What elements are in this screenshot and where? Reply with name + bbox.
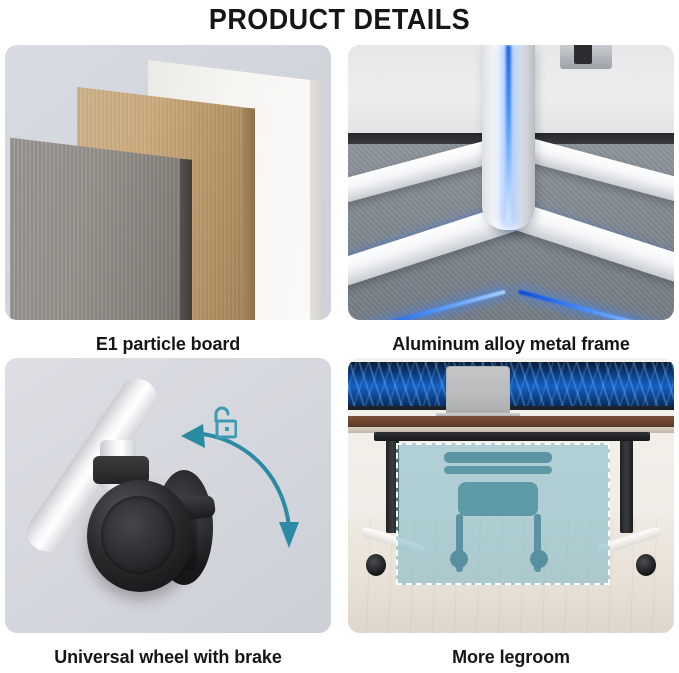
caption-e1-particle-board: E1 particle board (5, 320, 331, 353)
legroom-highlight-area (396, 443, 610, 585)
frame-center-post (482, 45, 535, 230)
desk-under-frame (374, 432, 650, 441)
laptop (446, 366, 510, 418)
desk-caster-left (366, 554, 386, 576)
gray-board-edge (180, 159, 192, 320)
feature-card-universal-wheel-with-brake: Universal wheel with brake (5, 358, 331, 668)
gray-board (10, 138, 180, 320)
oak-board-edge (242, 107, 255, 320)
feature-card-more-legroom: More legroom (348, 358, 674, 668)
led-strip-post (506, 45, 511, 223)
unlock-icon (207, 406, 237, 442)
caption-universal-wheel-with-brake: Universal wheel with brake (5, 633, 331, 666)
ultrawide-monitor (348, 362, 674, 410)
feature-card-e1-particle-board: E1 particle board (5, 45, 331, 355)
feature-grid: E1 particle board Aluminum alloy metal f… (5, 45, 674, 668)
rotation-arrow-icon (173, 402, 323, 562)
aluminum-frame-photo (348, 45, 674, 320)
page-title: PRODUCT DETAILS (24, 0, 655, 38)
caption-more-legroom: More legroom (348, 633, 674, 666)
desk-top-surface (348, 416, 674, 427)
desk-caster-right (636, 554, 656, 576)
gray-board-face (10, 138, 180, 320)
particle-board-photo (5, 45, 331, 320)
legroom-photo (348, 358, 674, 633)
caster-wheel-photo (5, 358, 331, 633)
wall-outlet-plate (560, 45, 612, 69)
white-board-edge (310, 80, 321, 320)
desk-leg-right (620, 438, 633, 533)
feature-card-aluminum-alloy-metal-frame: Aluminum alloy metal frame (348, 45, 674, 355)
caption-aluminum-alloy-metal-frame: Aluminum alloy metal frame (348, 320, 674, 353)
